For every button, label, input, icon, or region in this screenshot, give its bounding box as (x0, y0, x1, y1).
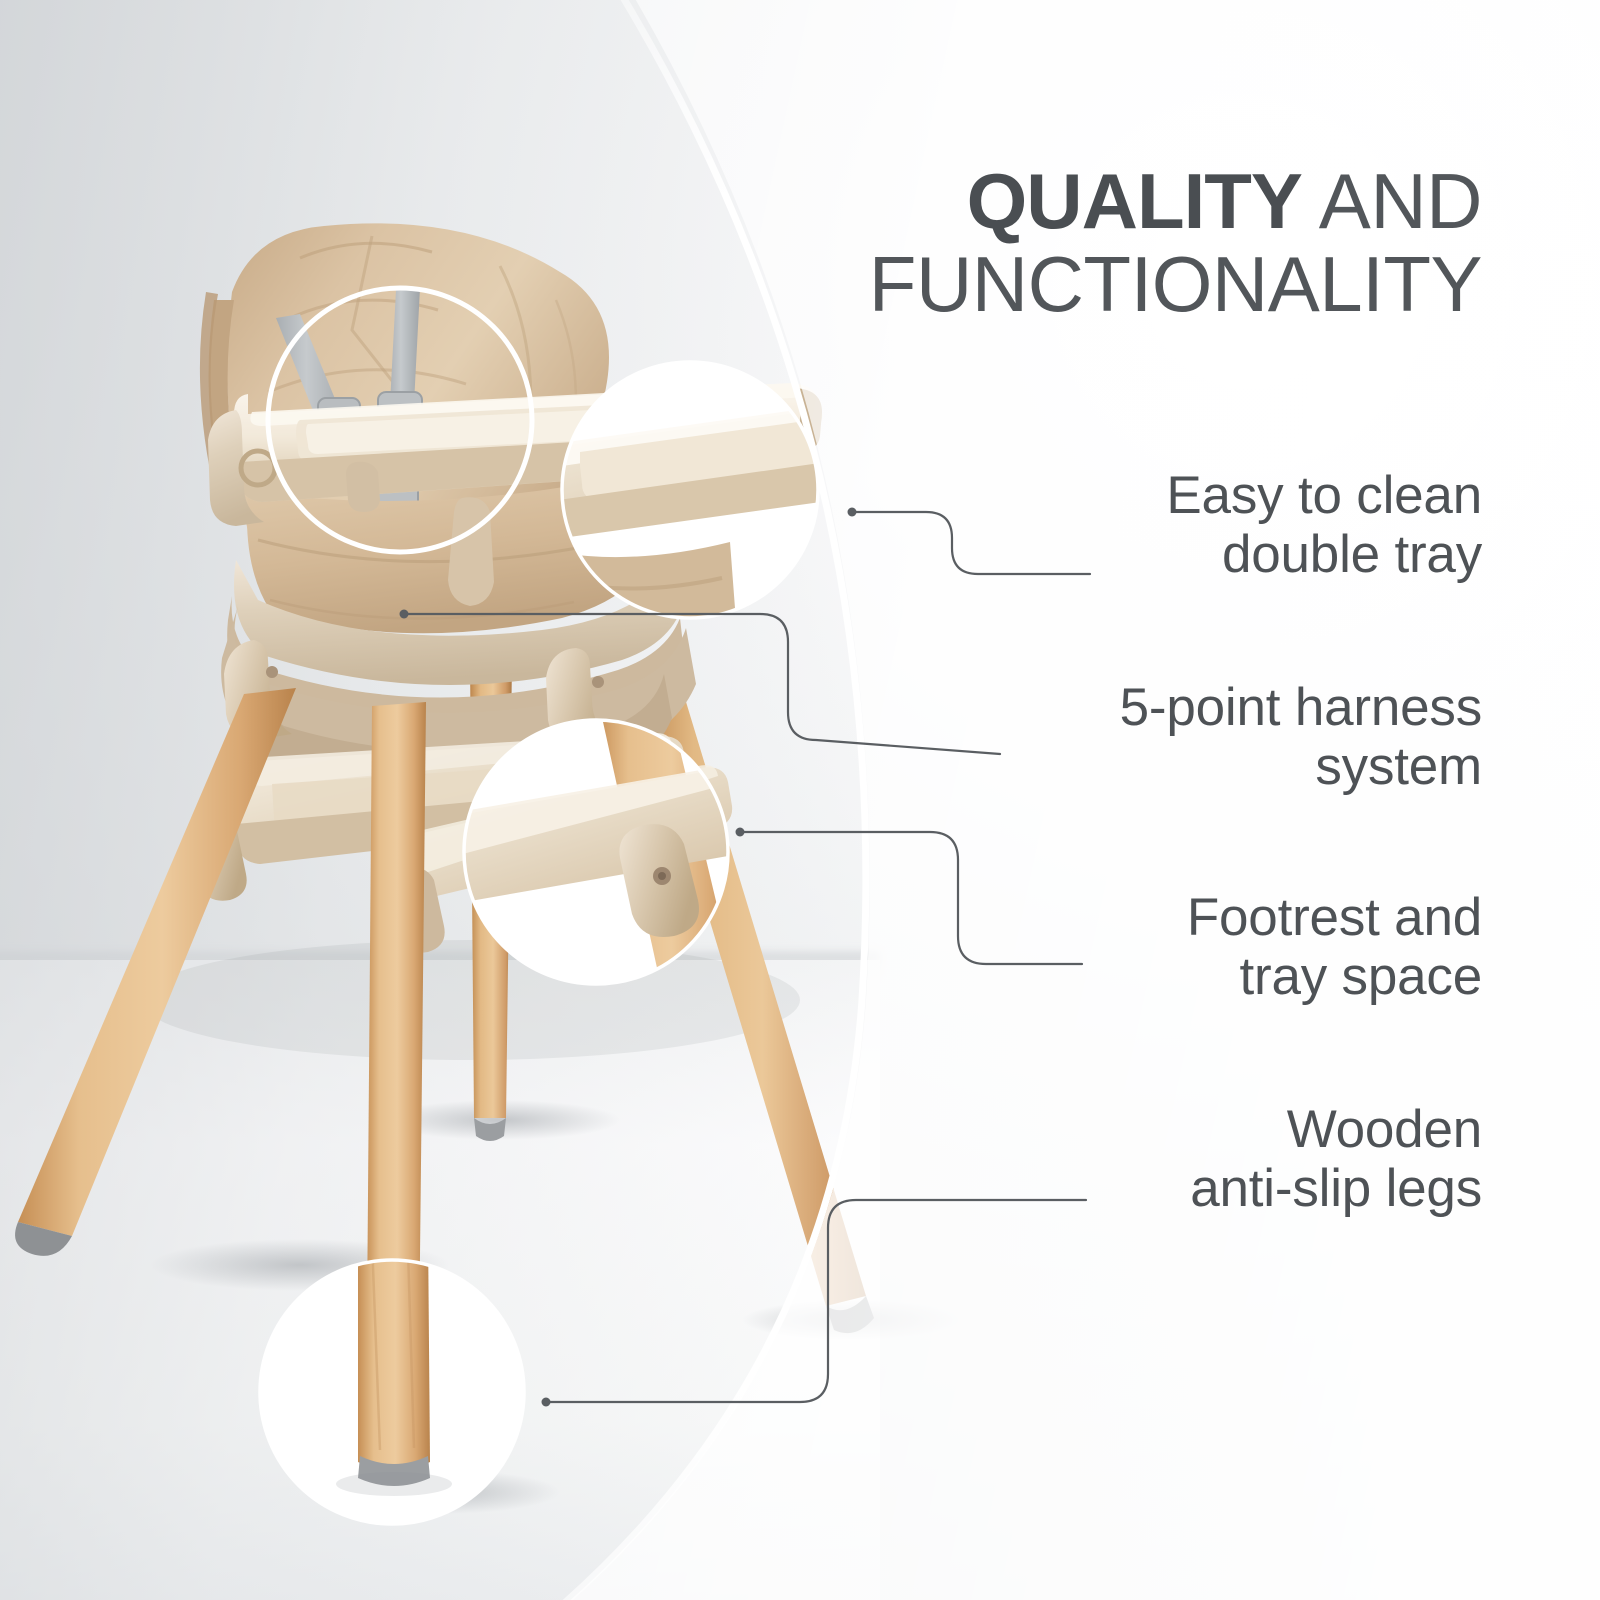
feature-line-2: tray space (842, 947, 1482, 1006)
leader-line-legs (546, 1200, 1086, 1402)
feature-label-easy-to-clean-double-tray: Easy to clean double tray (842, 466, 1482, 585)
feature-line-2: system (842, 737, 1482, 796)
feature-line-1: Footrest and (842, 888, 1482, 947)
feature-label-footrest-and-tray-space: Footrest and tray space (842, 888, 1482, 1007)
leader-dot-footrest (736, 828, 745, 837)
feature-line-2: anti-slip legs (842, 1159, 1482, 1218)
title-line-2: FUNCTIONALITY (722, 243, 1482, 326)
feature-label-wooden-anti-slip-legs: Wooden anti-slip legs (842, 1100, 1482, 1219)
title-strong: QUALITY (967, 157, 1302, 245)
leader-dot-harness (400, 610, 409, 619)
page-title: QUALITY AND FUNCTIONALITY (722, 160, 1482, 325)
title-rest: AND (1302, 157, 1482, 245)
leader-dot-legs (542, 1398, 551, 1407)
feature-line-2: double tray (842, 525, 1482, 584)
feature-line-1: Wooden (842, 1100, 1482, 1159)
infographic-canvas: QUALITY AND FUNCTIONALITY Easy to clean … (0, 0, 1600, 1600)
feature-line-1: Easy to clean (842, 466, 1482, 525)
feature-label-five-point-harness-system: 5-point harness system (842, 678, 1482, 797)
feature-line-1: 5-point harness (842, 678, 1482, 737)
